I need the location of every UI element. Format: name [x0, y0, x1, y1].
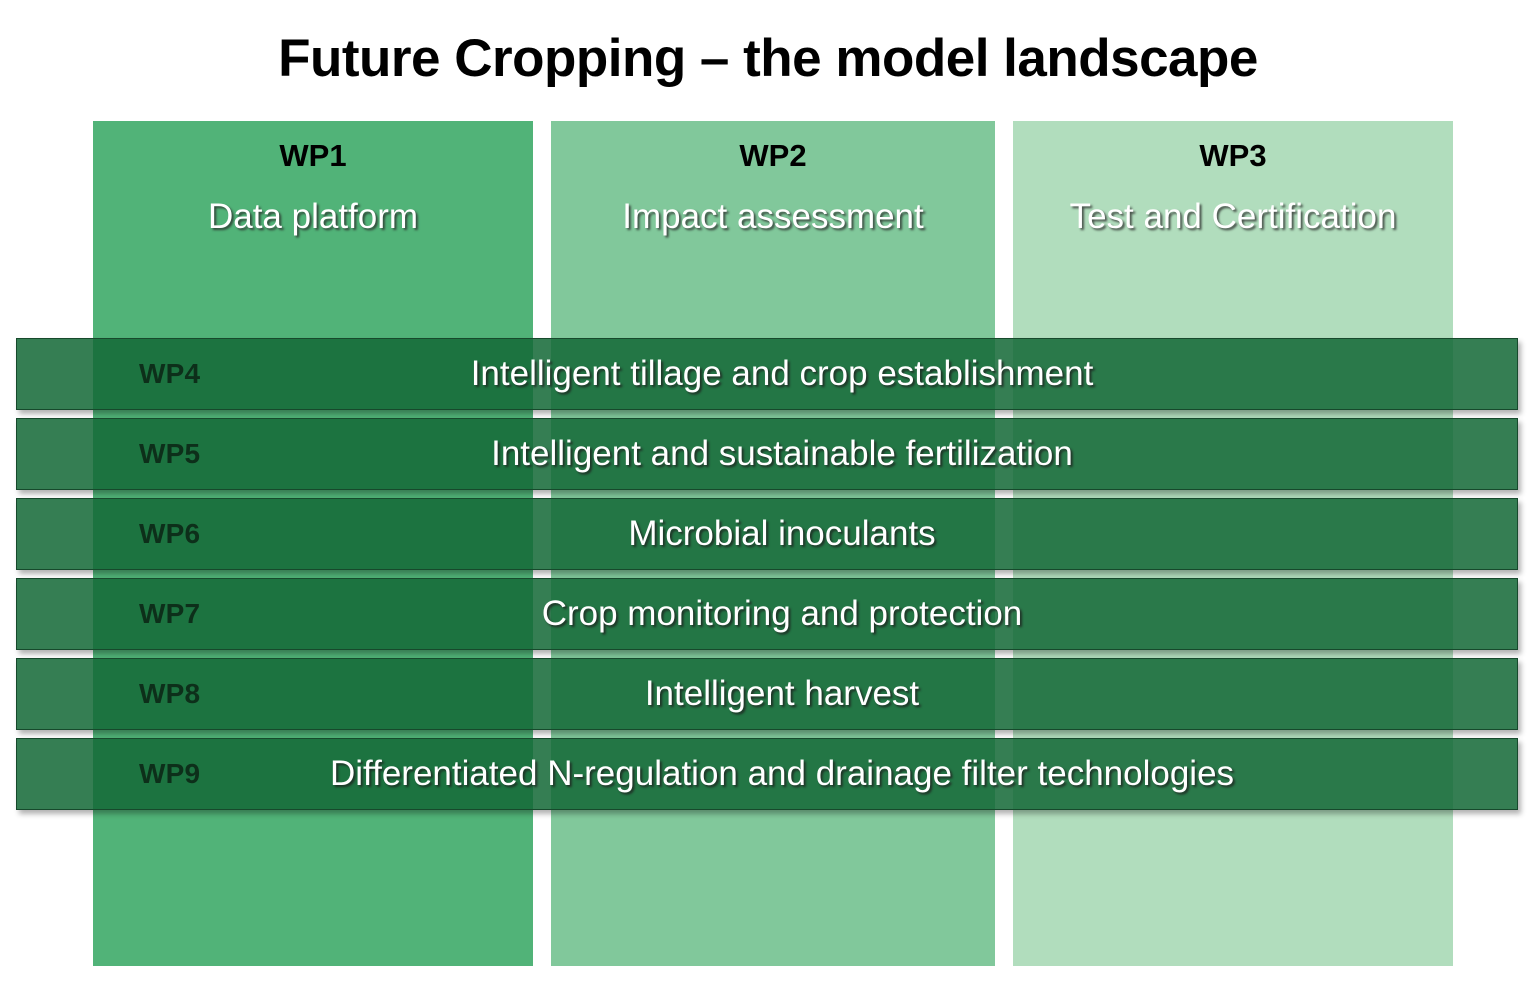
wp-bar-code: WP9 — [139, 758, 200, 790]
wp-bar-label: Intelligent harvest — [17, 674, 1517, 714]
wp-bar-wp4[interactable]: WP4 Intelligent tillage and crop establi… — [16, 338, 1518, 410]
wp-bar-wp9[interactable]: WP9 Differentiated N-regulation and drai… — [16, 738, 1518, 810]
wp-column-name: Data platform — [93, 196, 533, 238]
wp-column-code: WP2 — [551, 137, 995, 176]
wp-bar-wp8[interactable]: WP8 Intelligent harvest — [16, 658, 1518, 730]
wp-bar-code: WP5 — [139, 438, 200, 470]
wp-column-code: WP3 — [1013, 137, 1453, 176]
page-title: Future Cropping – the model landscape — [0, 28, 1536, 89]
wp-bar-code: WP7 — [139, 598, 200, 630]
wp-bar-label: Crop monitoring and protection — [17, 594, 1517, 634]
wp-bar-code: WP6 — [139, 518, 200, 550]
wp-bar-wp5[interactable]: WP5 Intelligent and sustainable fertiliz… — [16, 418, 1518, 490]
wp-bar-code: WP4 — [139, 358, 200, 390]
wp-bar-label: Microbial inoculants — [17, 514, 1517, 554]
wp-column-name: Test and Certification — [1013, 196, 1453, 238]
wp-column-code: WP1 — [93, 137, 533, 176]
wp-bar-code: WP8 — [139, 678, 200, 710]
wp-bar-label: Intelligent tillage and crop establishme… — [17, 354, 1517, 394]
wp-bar-label: Differentiated N-regulation and drainage… — [17, 754, 1517, 794]
wp-column-name: Impact assessment — [551, 196, 995, 238]
wp-bar-label: Intelligent and sustainable fertilizatio… — [17, 434, 1517, 474]
wp-bar-wp6[interactable]: WP6 Microbial inoculants — [16, 498, 1518, 570]
slide-canvas: Future Cropping – the model landscape WP… — [0, 0, 1536, 990]
wp-bar-wp7[interactable]: WP7 Crop monitoring and protection — [16, 578, 1518, 650]
